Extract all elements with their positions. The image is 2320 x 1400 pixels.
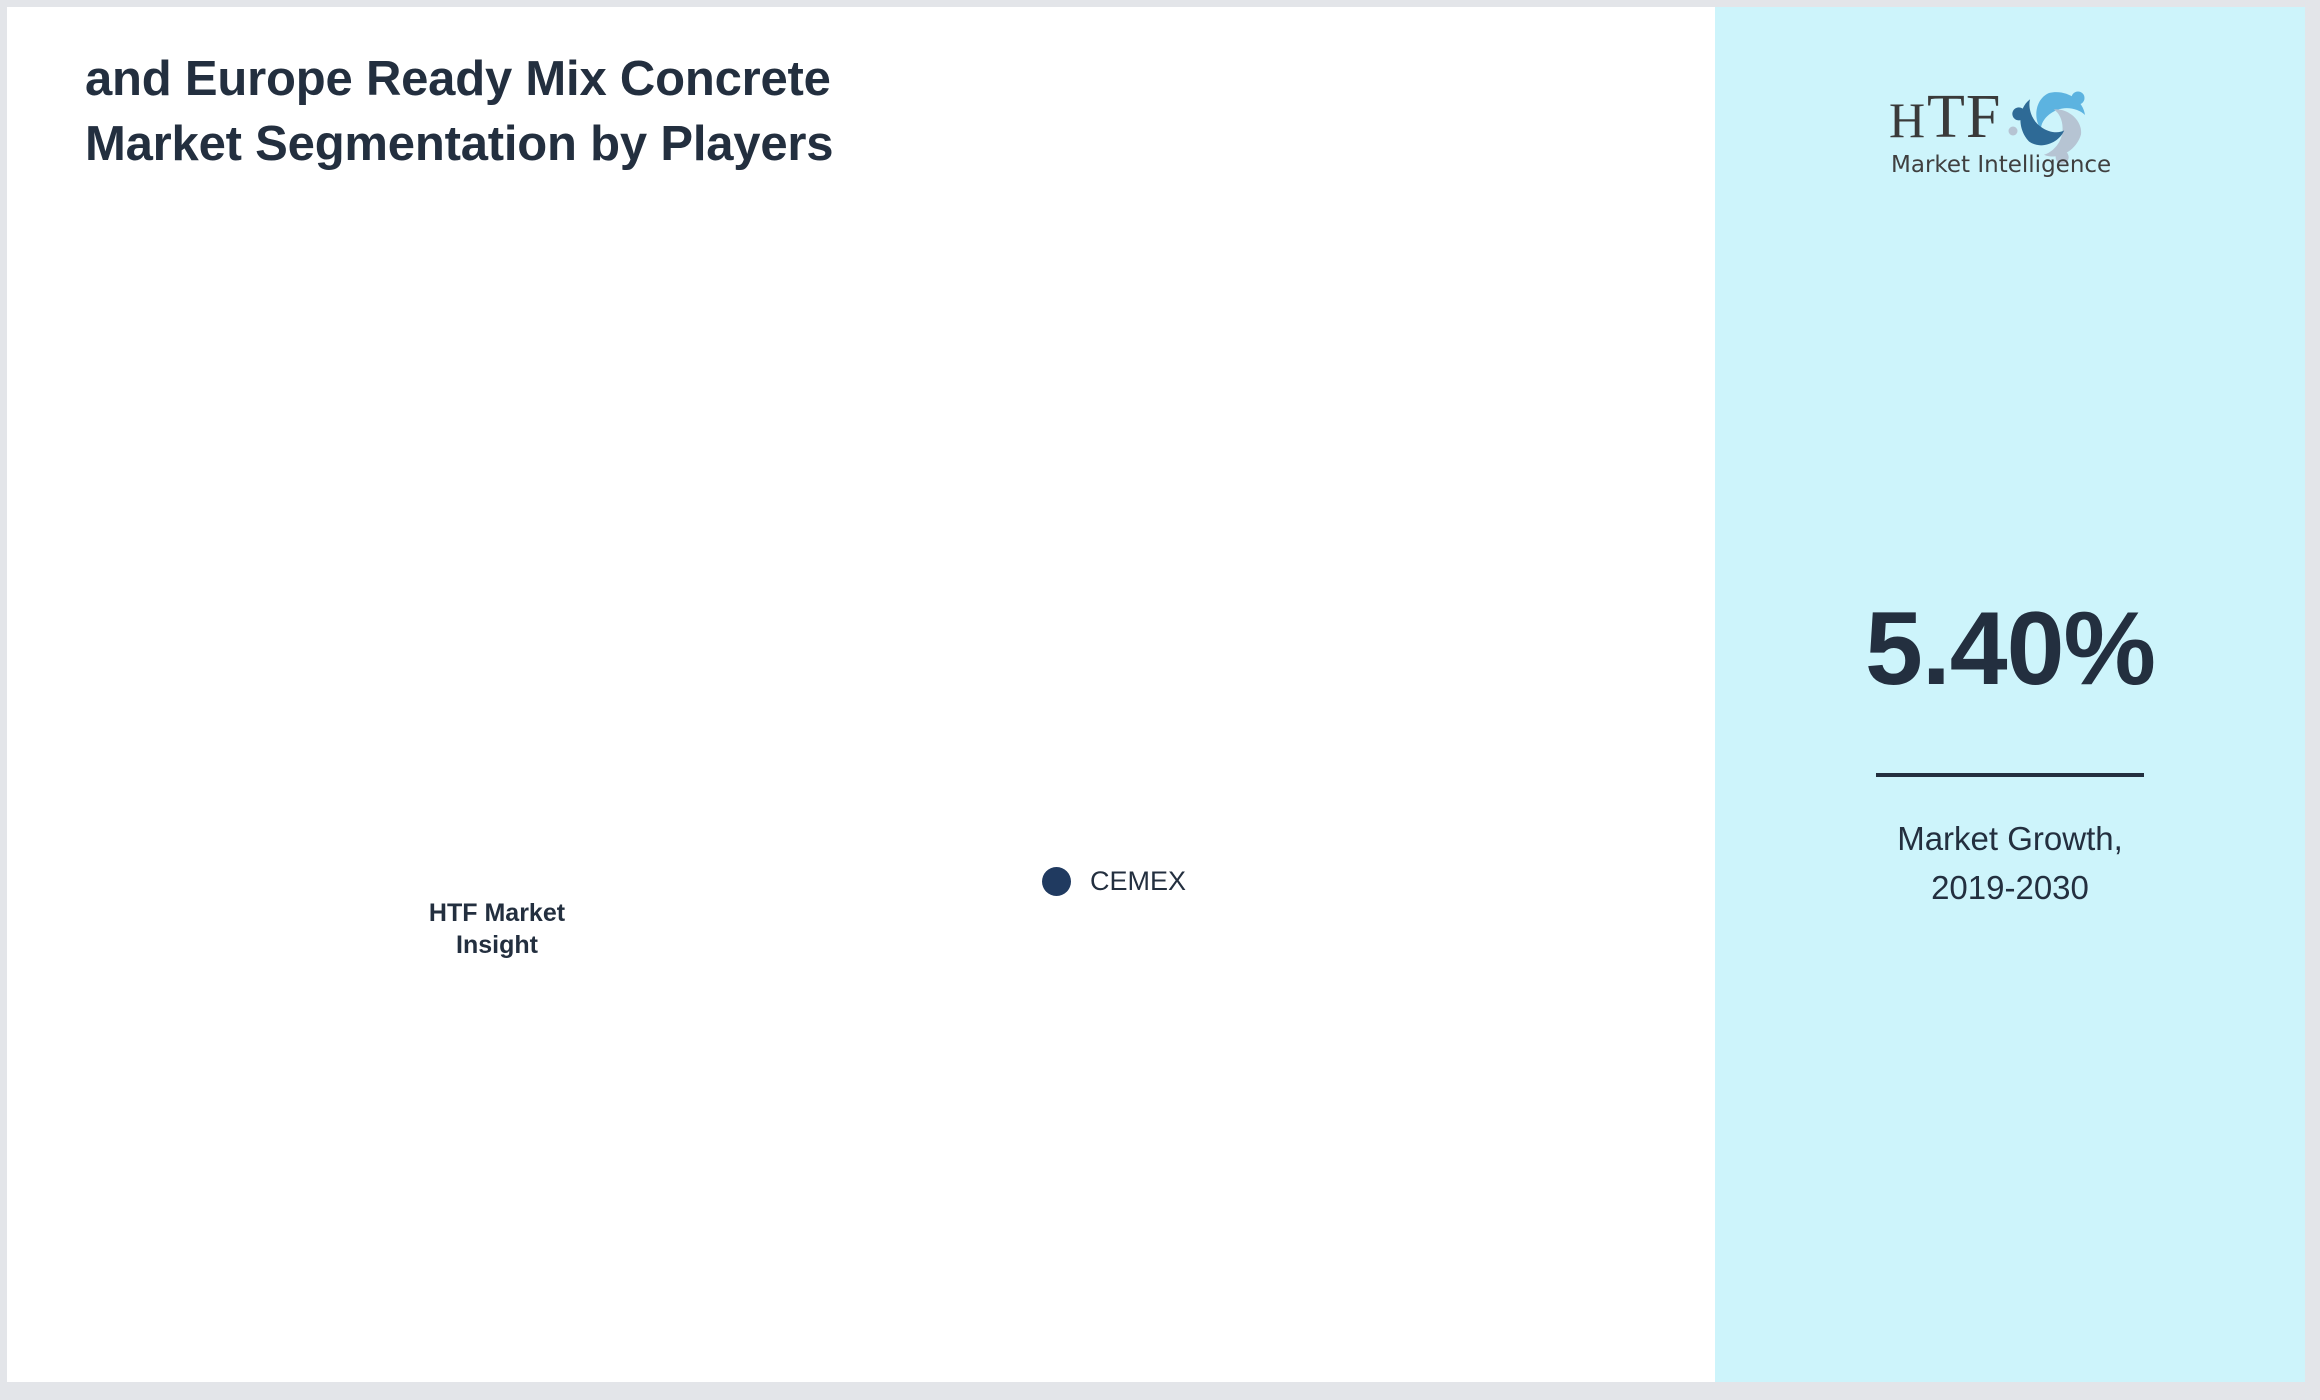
svg-text:H: H bbox=[1889, 92, 1926, 148]
pie-chart: HTF Market Insight CEMEX bbox=[7, 187, 1715, 1337]
main-panel: and Europe Ready Mix Concrete Market Seg… bbox=[7, 7, 1715, 1382]
pie-chart-plot-area: HTF Market Insight bbox=[127, 247, 1027, 1247]
infographic-slide: and Europe Ready Mix Concrete Market Seg… bbox=[7, 7, 2305, 1382]
svg-text:TF: TF bbox=[1927, 83, 2001, 151]
htf-people-swirl-logo: H TF bbox=[1885, 75, 2135, 195]
legend-item-cemex[interactable]: CEMEX bbox=[1042, 867, 1186, 896]
chart-legend: CEMEX bbox=[1042, 867, 1186, 896]
legend-swatch-icon bbox=[1042, 867, 1071, 896]
stat-value: 5.40% bbox=[1750, 597, 2270, 701]
svg-text:Market Intelligence: Market Intelligence bbox=[1891, 152, 2111, 178]
pie-center-label: HTF Market Insight bbox=[402, 897, 592, 961]
stat-caption: Market Growth, 2019-2030 bbox=[1750, 815, 2270, 913]
legend-item-label: CEMEX bbox=[1090, 868, 1186, 895]
stat-divider bbox=[1876, 773, 2144, 777]
page-title: and Europe Ready Mix Concrete Market Seg… bbox=[85, 47, 1185, 177]
htf-market-intelligence-logo: H TF bbox=[1885, 75, 2135, 195]
market-growth-stat: 5.40% Market Growth, 2019-2030 bbox=[1750, 597, 2270, 913]
sidebar-panel: H TF bbox=[1715, 7, 2305, 1382]
